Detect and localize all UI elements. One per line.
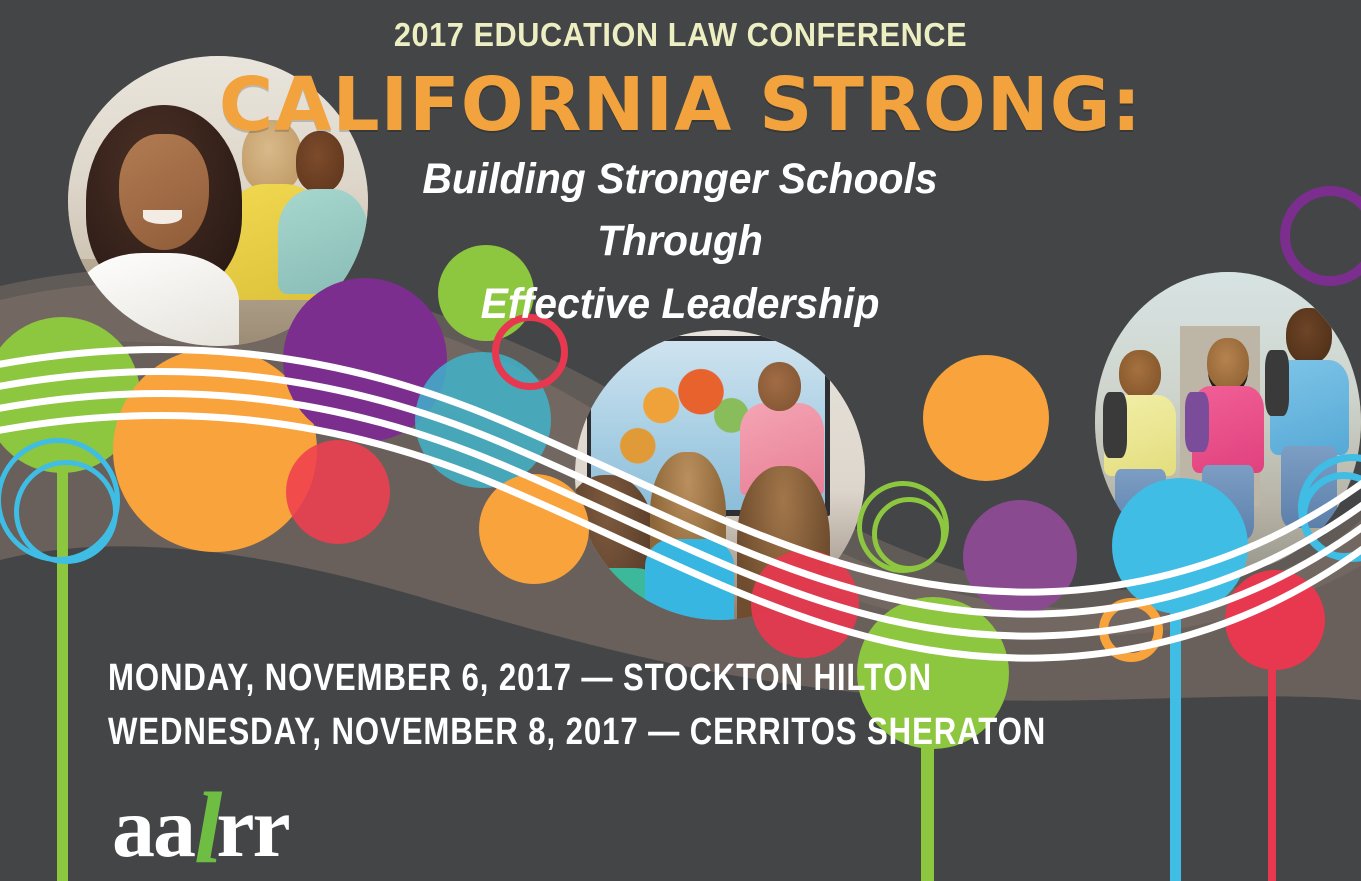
conference-poster: 2017 EDUCATION LAW CONFERENCE CALIFORNIA… [0, 0, 1361, 881]
event-dates: MONDAY, NOVEMBER 6, 2017 — STOCKTON HILT… [108, 652, 1252, 760]
subtitle-line-2: Effective Leadership [348, 273, 1013, 335]
logo-part-rr: rr [216, 779, 288, 875]
logo-part-aa: aa [112, 779, 194, 875]
event-kicker: 2017 EDUCATION LAW CONFERENCE [48, 16, 1314, 54]
page-title: CALIFORNIA STRONG: [0, 62, 1361, 148]
subtitle-line-1: Building Stronger Schools Through [348, 148, 1013, 273]
logo-part-l-accent: l [194, 772, 216, 881]
event-date-line-1: MONDAY, NOVEMBER 6, 2017 — STOCKTON HILT… [108, 652, 1046, 706]
page-subtitle: Building Stronger Schools Through Effect… [348, 148, 1013, 335]
event-date-line-2: WEDNESDAY, NOVEMBER 8, 2017 — CERRITOS S… [108, 706, 1046, 760]
aalrr-logo[interactable]: aalrr [112, 772, 289, 874]
